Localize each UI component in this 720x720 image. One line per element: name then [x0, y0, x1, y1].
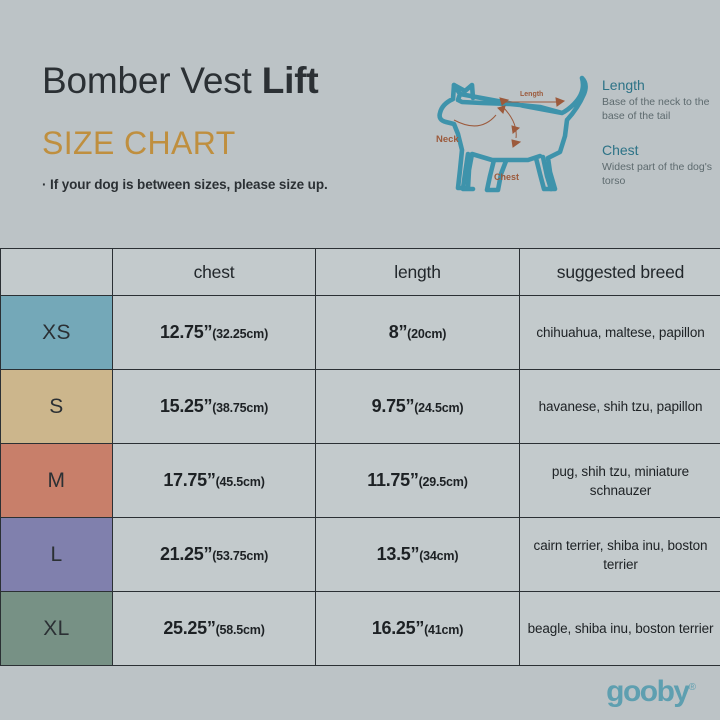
diagram-label-chest: Chest: [494, 172, 519, 182]
trademark-symbol: ®: [689, 682, 696, 693]
length-measurement-cell: 16.25”(41cm): [316, 592, 520, 666]
chest-inches: 17.75”: [163, 470, 215, 490]
length-measurement-cell: 8”(20cm): [316, 296, 520, 370]
length-measurement-cell: 13.5”(34cm): [316, 518, 520, 592]
chest-measurement-cell: 21.25”(53.75cm): [113, 518, 316, 592]
chest-inches: 12.75”: [160, 322, 212, 342]
table-row: M 17.75”(45.5cm) 11.75”(29.5cm) pug, shi…: [1, 444, 720, 518]
page-title-regular: Bomber Vest: [42, 60, 262, 101]
column-header-length: length: [316, 249, 520, 296]
chest-measurement-cell: 25.25”(58.5cm): [113, 592, 316, 666]
chest-centimeters: (58.5cm): [216, 623, 265, 637]
column-header-breed: suggested breed: [520, 249, 720, 296]
table-row: XL 25.25”(58.5cm) 16.25”(41cm) beagle, s…: [1, 592, 720, 666]
chest-centimeters: (32.25cm): [212, 327, 268, 341]
chest-centimeters: (53.75cm): [212, 549, 268, 563]
length-centimeters: (41cm): [424, 623, 463, 637]
page-title: Bomber Vest Lift: [42, 59, 318, 103]
length-centimeters: (34cm): [419, 549, 458, 563]
length-inches: 9.75”: [372, 396, 415, 416]
size-chart-table: chest length suggested breed XS 12.75”(3…: [0, 248, 720, 666]
length-inches: 16.25”: [372, 618, 424, 638]
legend-desc-chest: Widest part of the dog's torso: [602, 161, 720, 188]
chest-inches: 21.25”: [160, 544, 212, 564]
size-chart-page: Bomber Vest Lift SIZE CHART · If your do…: [0, 0, 720, 720]
chest-measurement-cell: 15.25”(38.75cm): [113, 370, 316, 444]
sizing-note: · If your dog is between sizes, please s…: [42, 176, 328, 194]
diagram-label-neck: Neck: [436, 134, 459, 145]
table-header-row: chest length suggested breed: [1, 249, 720, 296]
length-inches: 8”: [389, 322, 407, 342]
header-section: Bomber Vest Lift SIZE CHART · If your do…: [0, 0, 720, 248]
page-subtitle: SIZE CHART: [42, 124, 236, 162]
size-label-cell: XS: [1, 296, 113, 370]
legend-item-length: Length Base of the neck to the base of t…: [602, 76, 720, 123]
legend-term-chest: Chest: [602, 141, 720, 159]
length-inches: 13.5”: [377, 544, 420, 564]
legend-item-chest: Chest Widest part of the dog's torso: [602, 141, 720, 188]
size-label-cell: XL: [1, 592, 113, 666]
suggested-breed-cell: havanese, shih tzu, papillon: [520, 370, 720, 444]
legend-term-length: Length: [602, 76, 720, 94]
page-title-bold: Lift: [262, 60, 319, 101]
column-header-chest: chest: [113, 249, 316, 296]
chest-centimeters: (38.75cm): [212, 401, 268, 415]
chest-inches: 15.25”: [160, 396, 212, 416]
length-centimeters: (20cm): [407, 327, 446, 341]
size-label-cell: S: [1, 370, 113, 444]
size-label-cell: L: [1, 518, 113, 592]
size-label-cell: M: [1, 444, 113, 518]
chest-inches: 25.25”: [163, 618, 215, 638]
dog-measurement-diagram: Neck Length Chest: [432, 58, 612, 206]
table-row: XS 12.75”(32.25cm) 8”(20cm) chihuahua, m…: [1, 296, 720, 370]
brand-logo: gooby®: [606, 672, 696, 708]
legend-desc-length: Base of the neck to the base of the tail: [602, 96, 720, 123]
length-inches: 11.75”: [367, 470, 418, 490]
dog-outline-icon: Neck Length Chest: [432, 58, 612, 206]
brand-name: gooby: [606, 675, 689, 708]
column-header-size: [1, 249, 113, 296]
length-centimeters: (29.5cm): [419, 475, 468, 489]
table-row: L 21.25”(53.75cm) 13.5”(34cm) cairn terr…: [1, 518, 720, 592]
table-body: XS 12.75”(32.25cm) 8”(20cm) chihuahua, m…: [1, 296, 720, 666]
length-centimeters: (24.5cm): [414, 401, 463, 415]
suggested-breed-cell: chihuahua, maltese, papillon: [520, 296, 720, 370]
suggested-breed-cell: pug, shih tzu, miniature schnauzer: [520, 444, 720, 518]
suggested-breed-cell: beagle, shiba inu, boston terrier: [520, 592, 720, 666]
chest-measurement-cell: 17.75”(45.5cm): [113, 444, 316, 518]
length-measurement-cell: 11.75”(29.5cm): [316, 444, 520, 518]
chest-measurement-cell: 12.75”(32.25cm): [113, 296, 316, 370]
diagram-label-length: Length: [520, 91, 543, 98]
length-measurement-cell: 9.75”(24.5cm): [316, 370, 520, 444]
table-row: S 15.25”(38.75cm) 9.75”(24.5cm) havanese…: [1, 370, 720, 444]
suggested-breed-cell: cairn terrier, shiba inu, boston terrier: [520, 518, 720, 592]
chest-centimeters: (45.5cm): [216, 475, 265, 489]
measurement-legend: Length Base of the neck to the base of t…: [602, 76, 720, 188]
